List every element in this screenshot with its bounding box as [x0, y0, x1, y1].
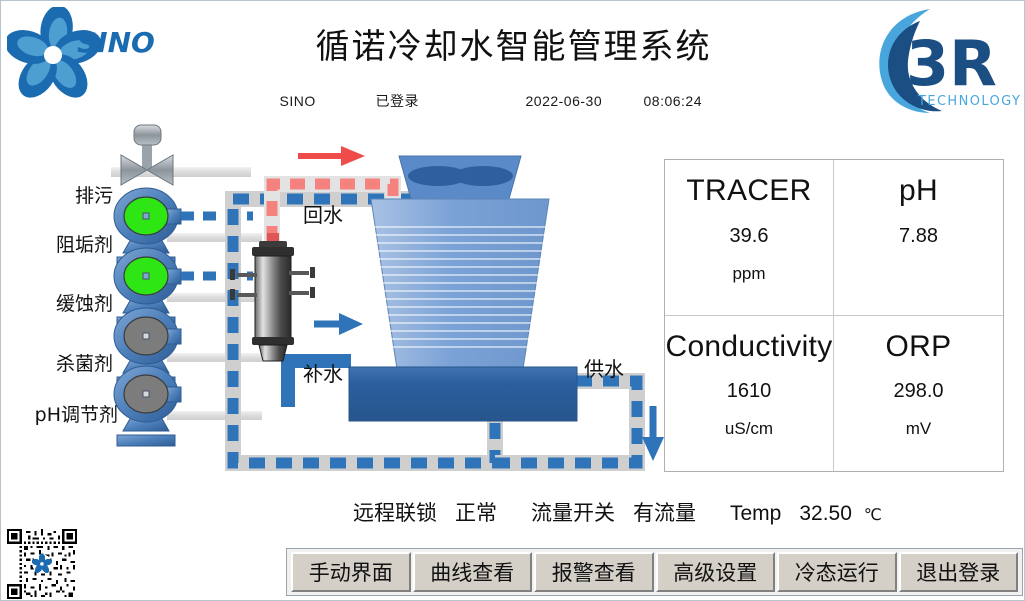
- conductivity-unit: uS/cm: [725, 419, 773, 439]
- temp-label: Temp: [730, 502, 781, 526]
- temp-unit: ℃: [864, 505, 882, 525]
- supply-down-arrow: [642, 406, 664, 461]
- label-pump-biocide: 杀菌剂: [3, 349, 113, 376]
- measurement-cell-tracer: TRACER 39.6 ppm: [665, 160, 834, 316]
- tower-body: [371, 199, 549, 369]
- label-blowdown: 排污: [3, 181, 113, 208]
- ph-name: pH: [899, 174, 938, 209]
- flow-switch-value: 有流量: [633, 497, 696, 527]
- label-makeup-water: 补水: [303, 358, 343, 387]
- advanced-settings-button[interactable]: 高级设置: [656, 552, 776, 592]
- measurement-cell-orp: ORP 298.0 mV: [834, 316, 1003, 472]
- tracer-unit: ppm: [732, 264, 765, 284]
- remote-interlock-value: 正常: [455, 497, 497, 527]
- conductivity-value: 1610: [727, 380, 772, 403]
- label-supply-water: 供水: [584, 353, 624, 382]
- pipe-dose-1: [167, 233, 262, 242]
- flow-switch-label: 流量开关: [531, 497, 615, 527]
- manual-interface-button[interactable]: 手动界面: [291, 552, 411, 592]
- orp-unit: mV: [906, 419, 932, 439]
- tower-basin: [349, 367, 577, 421]
- page-title: 循诺冷却水智能管理系统: [1, 19, 1025, 68]
- orp-name: ORP: [886, 330, 952, 365]
- logout-button[interactable]: 退出登录: [899, 552, 1019, 592]
- current-user: SINO: [280, 93, 376, 109]
- remote-interlock-label: 远程联锁: [353, 497, 437, 527]
- button-bar: 手动界面 曲线查看 报警查看 高级设置 冷态运行 退出登录: [286, 548, 1023, 596]
- qr-code: [7, 529, 77, 599]
- return-flow-arrow: [298, 146, 365, 166]
- label-pump-antiscalant: 阻垢剂: [3, 230, 113, 257]
- tracer-value: 39.6: [730, 225, 769, 248]
- cold-start-button[interactable]: 冷态运行: [777, 552, 897, 592]
- measurement-panel: TRACER 39.6 ppm pH 7.88 Conductivity 161…: [664, 159, 1004, 472]
- label-pump-corrosion-inhibitor: 缓蚀剂: [3, 289, 113, 316]
- label-return-water: 回水: [303, 199, 343, 228]
- login-status: 已登录: [376, 91, 526, 111]
- pipe-dose-4: [167, 411, 262, 420]
- orp-value: 298.0: [893, 380, 943, 403]
- ph-value: 7.88: [899, 225, 938, 248]
- dosing-pump-4[interactable]: [114, 366, 181, 446]
- tracer-name: TRACER: [686, 174, 811, 209]
- status-bar: 远程联锁 正常 流量开关 有流量 Temp 32.50 ℃: [353, 497, 1013, 527]
- current-date: 2022-06-30: [526, 93, 644, 109]
- label-pump-ph-adjuster: pH调节剂: [3, 400, 118, 427]
- current-time: 08:06:24: [644, 93, 754, 109]
- temp-value: 32.50: [799, 502, 852, 526]
- alarm-view-button[interactable]: 报警查看: [534, 552, 654, 592]
- measurement-cell-conductivity: Conductivity 1610 uS/cm: [665, 316, 834, 472]
- header-meta: SINO 已登录 2022-06-30 08:06:24: [1, 91, 1025, 111]
- pipe-dose-3: [167, 353, 262, 362]
- fan-blade-right: [453, 166, 513, 186]
- water-analyzer-unit[interactable]: [230, 233, 315, 361]
- trend-curve-button[interactable]: 曲线查看: [413, 552, 533, 592]
- app-window: SINO 3R TECHNOLOGY 循诺冷却水智能管理系统 SINO 已登录 …: [0, 0, 1025, 601]
- makeup-flow-arrow: [314, 313, 363, 335]
- conductivity-name: Conductivity: [665, 330, 832, 365]
- measurement-cell-ph: pH 7.88: [834, 160, 1003, 316]
